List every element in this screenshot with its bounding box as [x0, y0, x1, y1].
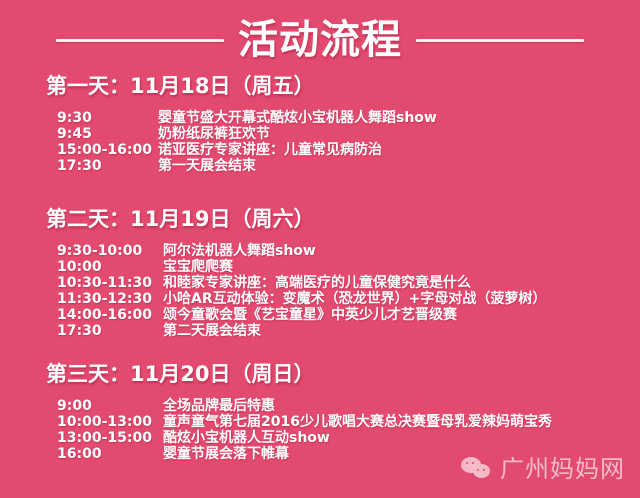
schedule-row: 9:30-10:00 阿尔法机器人舞蹈show [57, 243, 640, 259]
schedule-time: 17:30 [57, 323, 158, 339]
schedule-event: 奶粉纸尿裤狂欢节 [158, 126, 270, 142]
schedule-row: 9:00 全场品牌最后特惠 [57, 398, 640, 414]
schedule-event: 和睦家专家讲座：高端医疗的儿童保健究竟是什么 [158, 275, 471, 291]
schedule-time: 9:45 [57, 126, 158, 142]
schedule-time: 10:30-11:30 [57, 275, 158, 291]
title-rule-left [56, 39, 224, 42]
schedule-event: 酷炫小宝机器人互动show [158, 430, 330, 446]
schedule-row: 10:00 宝宝爬爬赛 [57, 259, 640, 275]
day-section-1: 第一天：11月18日（周五） 9:30 婴童节盛大开幕式酷炫小宝机器人舞蹈sho… [0, 72, 640, 174]
schedule-row: 13:00-15:00 酷炫小宝机器人互动show [57, 430, 640, 446]
schedule-time: 13:00-15:00 [57, 430, 158, 446]
schedule-time: 9:30 [57, 110, 158, 126]
schedule-event: 阿尔法机器人舞蹈show [158, 243, 316, 259]
schedule-event: 第一天展会结束 [158, 158, 256, 174]
wechat-watermark: 广州妈妈网 [461, 456, 625, 482]
schedule-time: 16:00 [57, 446, 158, 462]
title-rule-right [416, 39, 584, 42]
schedule-row: 17:30 第一天展会结束 [57, 158, 640, 174]
day-heading: 第一天：11月18日（周五） [46, 72, 640, 100]
schedule-row: 15:00-16:00 诺亚医疗专家讲座：儿童常见病防治 [57, 142, 640, 158]
activity-schedule-poster: 活动流程 第一天：11月18日（周五） 9:30 婴童节盛大开幕式酷炫小宝机器人… [0, 0, 640, 498]
schedule-event: 第二天展会结束 [158, 323, 261, 339]
day-section-3: 第三天：11月20日（周日） 9:00 全场品牌最后特惠 10:00-13:00… [0, 360, 640, 462]
day-heading: 第二天：11月19日（周六） [46, 205, 640, 233]
schedule-time: 15:00-16:00 [57, 142, 158, 158]
schedule-event: 诺亚医疗专家讲座：儿童常见病防治 [158, 142, 382, 158]
schedule-event: 婴童节盛大开幕式酷炫小宝机器人舞蹈show [158, 110, 437, 126]
schedule-row: 9:45 奶粉纸尿裤狂欢节 [57, 126, 640, 142]
schedule-list: 9:30 婴童节盛大开幕式酷炫小宝机器人舞蹈show 9:45 奶粉纸尿裤狂欢节… [57, 110, 640, 174]
schedule-event: 宝宝爬爬赛 [158, 259, 233, 275]
schedule-time: 9:00 [57, 398, 158, 414]
schedule-time: 10:00-13:00 [57, 414, 158, 430]
schedule-time: 10:00 [57, 259, 158, 275]
schedule-row: 14:00-16:00 颂今童歌会暨《艺宝童星》中英少儿才艺晋级赛 [57, 307, 640, 323]
page-title: 活动流程 [238, 18, 402, 62]
watermark-label: 广州妈妈网 [500, 456, 625, 482]
day-heading: 第三天：11月20日（周日） [46, 360, 640, 388]
schedule-list: 9:30-10:00 阿尔法机器人舞蹈show 10:00 宝宝爬爬赛 10:3… [57, 243, 640, 339]
schedule-list: 9:00 全场品牌最后特惠 10:00-13:00 童声童气第七届2016少儿歌… [57, 398, 640, 462]
schedule-time: 17:30 [57, 158, 158, 174]
schedule-row: 9:30 婴童节盛大开幕式酷炫小宝机器人舞蹈show [57, 110, 640, 126]
schedule-event: 童声童气第七届2016少儿歌唱大赛总决赛暨母乳爱辣妈萌宝秀 [158, 414, 552, 430]
schedule-event: 婴童节展会落下帷幕 [158, 446, 289, 462]
wechat-bubble-small [473, 464, 490, 478]
schedule-row: 17:30 第二天展会结束 [57, 323, 640, 339]
schedule-row: 11:30-12:30 小哈AR互动体验：变魔术（恐龙世界）+字母对战（菠萝树） [57, 291, 640, 307]
schedule-row: 10:30-11:30 和睦家专家讲座：高端医疗的儿童保健究竟是什么 [57, 275, 640, 291]
schedule-event: 颂今童歌会暨《艺宝童星》中英少儿才艺晋级赛 [158, 307, 457, 323]
schedule-event: 小哈AR互动体验：变魔术（恐龙世界）+字母对战（菠萝树） [158, 291, 546, 307]
day-section-2: 第二天：11月19日（周六） 9:30-10:00 阿尔法机器人舞蹈show 1… [0, 205, 640, 339]
poster-title-row: 活动流程 [0, 14, 640, 66]
schedule-row: 10:00-13:00 童声童气第七届2016少儿歌唱大赛总决赛暨母乳爱辣妈萌宝… [57, 414, 640, 430]
schedule-time: 11:30-12:30 [57, 291, 158, 307]
schedule-time: 9:30-10:00 [57, 243, 158, 259]
wechat-icon [461, 456, 493, 482]
schedule-event: 全场品牌最后特惠 [158, 398, 275, 414]
schedule-time: 14:00-16:00 [57, 307, 158, 323]
